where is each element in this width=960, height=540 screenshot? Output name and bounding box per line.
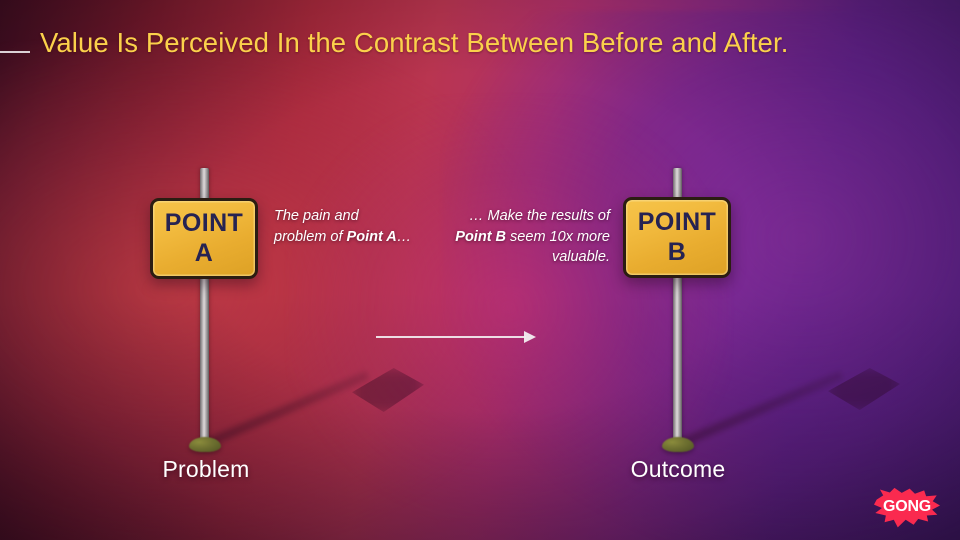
signpost-a-grass-base [189, 437, 221, 452]
title-accent-dash [0, 51, 30, 53]
caption-point-a: The pain and problem of Point A… [274, 206, 414, 247]
floor-label-problem: Problem [106, 456, 306, 483]
caption-a-suffix: … [397, 229, 412, 245]
signpost-b-grass-base [662, 437, 694, 452]
caption-b-prefix: … Make the results of [469, 208, 610, 224]
caption-point-b: … Make the results of Point B seem 10x m… [452, 206, 610, 268]
page-title: Value Is Perceived In the Contrast Betwe… [40, 27, 940, 59]
arrow-line [376, 336, 526, 338]
sign-a-label-line2: A [195, 241, 213, 266]
caption-b-emphasis: Point B [455, 229, 506, 245]
caption-a-emphasis: Point A [347, 229, 397, 245]
gong-logo: GONG [874, 487, 940, 529]
progress-arrow [376, 331, 538, 343]
caption-b-suffix: seem 10x more valuable. [506, 229, 610, 266]
sign-plate-point-b[interactable]: POINT B [623, 197, 731, 278]
slide-canvas: Value Is Perceived In the Contrast Betwe… [0, 0, 960, 540]
sign-b-label-line1: POINT [638, 210, 716, 235]
sign-a-label-line1: POINT [165, 211, 243, 236]
floor-label-outcome: Outcome [578, 456, 778, 483]
sign-plate-point-a[interactable]: POINT A [150, 198, 258, 279]
gong-logo-text: GONG [874, 487, 940, 529]
arrow-right-icon [524, 331, 536, 343]
sign-b-label-line2: B [668, 240, 686, 265]
